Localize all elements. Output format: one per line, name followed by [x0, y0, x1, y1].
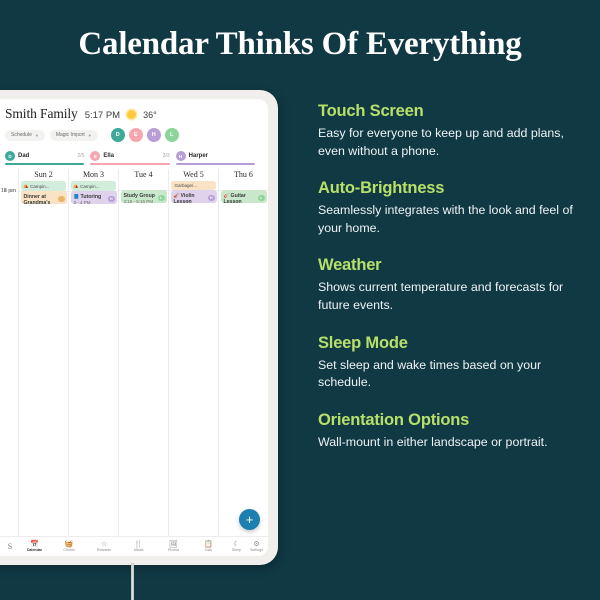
feature-item: Touch ScreenEasy for everyone to keep up…	[318, 102, 586, 160]
header-controls: Schedule ▼ Magic Import ▼ DEHL	[5, 128, 260, 142]
member-progress-strip: DDad2/5EElla3/3HHarper	[0, 151, 268, 165]
avatar[interactable]: E	[129, 128, 143, 142]
tablet-device: Smith Family 5:17 PM 36° Schedule ▼ Magi…	[0, 90, 278, 565]
event-emoji-icon: ⛺	[73, 183, 79, 189]
nav-item-label: Settings	[250, 548, 263, 552]
avatar[interactable]: L	[165, 128, 179, 142]
feature-title: Sleep Mode	[318, 334, 586, 353]
chevron-down-icon: ▼	[88, 133, 92, 138]
feature-title: Touch Screen	[318, 102, 586, 121]
feature-body: Set sleep and wake times based on your s…	[318, 357, 586, 392]
event-emoji-icon: ⛺	[23, 183, 29, 189]
progress-bar	[5, 163, 84, 165]
day-label: Sun 2	[19, 170, 68, 179]
sleep-icon: ☾	[233, 541, 239, 548]
event-owner-avatar: H	[108, 196, 115, 203]
nav-items: 📅Calendar🧺Chores☆Rewards🍴Meals🖼Photos📋Li…	[17, 541, 226, 553]
nav-item-label: Sleep	[232, 548, 241, 552]
event-emoji-icon: 📘	[74, 194, 80, 199]
clock: 5:17 PM	[85, 110, 120, 121]
nav-item-calendar[interactable]: 📅Calendar	[17, 541, 52, 553]
nav-item-photos[interactable]: 🖼Photos	[156, 541, 191, 553]
day-header: Sun 2⛺Campin...	[19, 169, 68, 191]
allday-spacer	[219, 179, 268, 190]
nav-item-label: Photos	[168, 548, 179, 552]
app-header: Smith Family 5:17 PM 36° Schedule ▼ Magi…	[0, 99, 268, 145]
calendar-icon: 📅	[30, 541, 39, 548]
photos-icon: 🖼	[169, 541, 178, 548]
feature-body: Wall-mount in either landscape or portra…	[318, 434, 586, 452]
calendar-grid: 9 am10 am11 am12 pm1 pm2 pm3 pm4 pm5 pm6…	[0, 169, 268, 536]
event-owner-avatar: L	[158, 195, 165, 202]
nav-item-rewards[interactable]: ☆Rewards	[87, 541, 122, 553]
feature-item: Auto-BrightnessSeamlessly integrates wit…	[318, 179, 586, 237]
feature-title: Weather	[318, 256, 586, 275]
member-name: Ella	[103, 153, 159, 159]
day-label: Mon 3	[69, 170, 118, 179]
progress-bar	[90, 163, 169, 165]
allday-event[interactable]: Garbage/...	[171, 181, 216, 190]
event-owner-avatar	[58, 196, 65, 203]
day-label: Thu 6	[219, 170, 268, 179]
day-header: Mon 3⛺Campin...	[69, 169, 118, 191]
member-progress[interactable]: DDad2/5	[5, 151, 90, 165]
avatar: E	[90, 151, 100, 161]
member-name: Harper	[189, 153, 252, 159]
calendar-event[interactable]: 🎻 Violin Lesson4 - 5 PMH	[171, 190, 217, 203]
feature-body: Seamlessly integrates with the look and …	[318, 202, 586, 237]
feature-item: WeatherShows current temperature and for…	[318, 256, 586, 314]
allday-event-label: Garbage/...	[175, 183, 198, 188]
day-label: Tue 4	[119, 170, 168, 179]
allday-event[interactable]: ⛺Campin...	[21, 181, 66, 191]
avatar-group: DEHL	[111, 128, 179, 142]
event-time: 3 - 4 PM	[74, 200, 114, 204]
feature-title: Auto-Brightness	[318, 179, 586, 198]
nav-item-label: Calendar	[27, 548, 42, 552]
nav-item-label: Meals	[134, 548, 144, 552]
allday-event-label: Campin...	[80, 184, 99, 189]
add-event-button[interactable]: +	[239, 509, 260, 530]
day-header: Tue 4	[119, 169, 168, 190]
calendar-event[interactable]: Study Group3:15 - 5:15 PML	[121, 190, 167, 203]
member-progress[interactable]: EElla3/3	[90, 151, 175, 165]
nav-item-lists[interactable]: 📋Lists	[191, 541, 226, 553]
chores-icon: 🧺	[65, 541, 74, 548]
time-gutter: 9 am10 am11 am12 pm1 pm2 pm3 pm4 pm5 pm6…	[0, 169, 18, 536]
nav-item-chores[interactable]: 🧺Chores	[52, 541, 87, 553]
nav-item-sleep[interactable]: ☾Sleep	[232, 541, 241, 553]
event-emoji-icon: 🎸	[224, 193, 230, 198]
member-count: 2/5	[77, 153, 84, 159]
magic-import-label: Magic Import	[56, 132, 85, 138]
nav-item-meals[interactable]: 🍴Meals	[121, 541, 156, 553]
sun-icon	[127, 110, 136, 119]
event-owner-avatar: L	[258, 195, 265, 202]
family-title: Smith Family	[5, 106, 78, 122]
time-label: 6 pm	[4, 188, 16, 194]
nav-right-items: ☾Sleep⚙Settings	[232, 541, 263, 553]
app-logo: S	[3, 542, 17, 551]
tablet-stand	[131, 563, 134, 600]
rewards-icon: ☆	[101, 541, 107, 548]
calendar-event[interactable]: 🎸 Guitar Lesson3 - 4 PML	[221, 190, 267, 203]
temperature: 36°	[143, 110, 157, 120]
magic-import-dropdown[interactable]: Magic Import ▼	[50, 130, 98, 141]
day-column: Wed 5Garbage/...History Test10:50 - 11:3…	[168, 169, 218, 536]
nav-item-label: Rewards	[97, 548, 111, 552]
feature-title: Orientation Options	[318, 411, 586, 430]
meals-icon: 🍴	[134, 541, 143, 548]
member-progress[interactable]: HHarper	[176, 151, 261, 165]
day-column: Mon 3⛺Campin...🐾 Dog's Big Bath Day!9:15…	[68, 169, 118, 536]
nav-item-label: Lists	[205, 548, 212, 552]
member-count: 3/3	[163, 153, 170, 159]
tablet-screen: Smith Family 5:17 PM 36° Schedule ▼ Magi…	[0, 99, 268, 556]
lists-icon: 📋	[204, 541, 213, 548]
feature-body: Easy for everyone to keep up and add pla…	[318, 125, 586, 160]
chevron-down-icon: ▼	[35, 133, 39, 138]
header-title-row: Smith Family 5:17 PM 36°	[5, 106, 260, 122]
avatar[interactable]: D	[111, 128, 125, 142]
day-header: Wed 5Garbage/...	[169, 169, 218, 190]
progress-bar	[176, 163, 255, 165]
calendar-event[interactable]: Dinner at Grandma's6 - 7 PM	[21, 191, 67, 204]
avatar: D	[5, 151, 15, 161]
feature-list: Touch ScreenEasy for everyone to keep up…	[318, 102, 586, 470]
schedule-dropdown[interactable]: Schedule ▼	[5, 130, 45, 141]
day-header: Thu 6	[219, 169, 268, 190]
bottom-nav: S 📅Calendar🧺Chores☆Rewards🍴Meals🖼Photos📋…	[0, 536, 268, 556]
nav-item-settings[interactable]: ⚙Settings	[250, 541, 263, 553]
page-title: Calendar Thinks Of Everything	[0, 26, 600, 63]
event-time: 3:15 - 5:15 PM	[124, 199, 164, 203]
day-column: Tue 4👔 Drop Off Dry Cleaning8:50 - 9:30 …	[118, 169, 168, 536]
member-name: Dad	[18, 153, 74, 159]
day-label: Wed 5	[169, 170, 218, 179]
day-column: Sun 2⛺Campin...Grocery Run10 - 11:30 AMD…	[18, 169, 68, 536]
nav-item-label: Chores	[63, 548, 75, 552]
event-owner-avatar: H	[208, 195, 215, 202]
day-columns: Sun 2⛺Campin...Grocery Run10 - 11:30 AMD…	[18, 169, 268, 536]
allday-event[interactable]: ⛺Campin...	[71, 181, 116, 191]
calendar-event[interactable]: 📘 Tutoring3 - 4 PMH	[71, 191, 117, 204]
feature-item: Sleep ModeSet sleep and wake times based…	[318, 334, 586, 392]
allday-spacer	[119, 179, 168, 190]
feature-body: Shows current temperature and forecasts …	[318, 279, 586, 314]
avatar: H	[176, 151, 186, 161]
event-emoji-icon: 🎻	[174, 193, 180, 198]
settings-icon: ⚙	[253, 541, 259, 548]
feature-item: Orientation OptionsWall-mount in either …	[318, 411, 586, 452]
schedule-label: Schedule	[11, 132, 32, 138]
day-column: Thu 6Pajama Day!9 - 10 AMEPep Rally!11 A…	[218, 169, 268, 536]
avatar[interactable]: H	[147, 128, 161, 142]
allday-event-label: Campin...	[30, 184, 49, 189]
